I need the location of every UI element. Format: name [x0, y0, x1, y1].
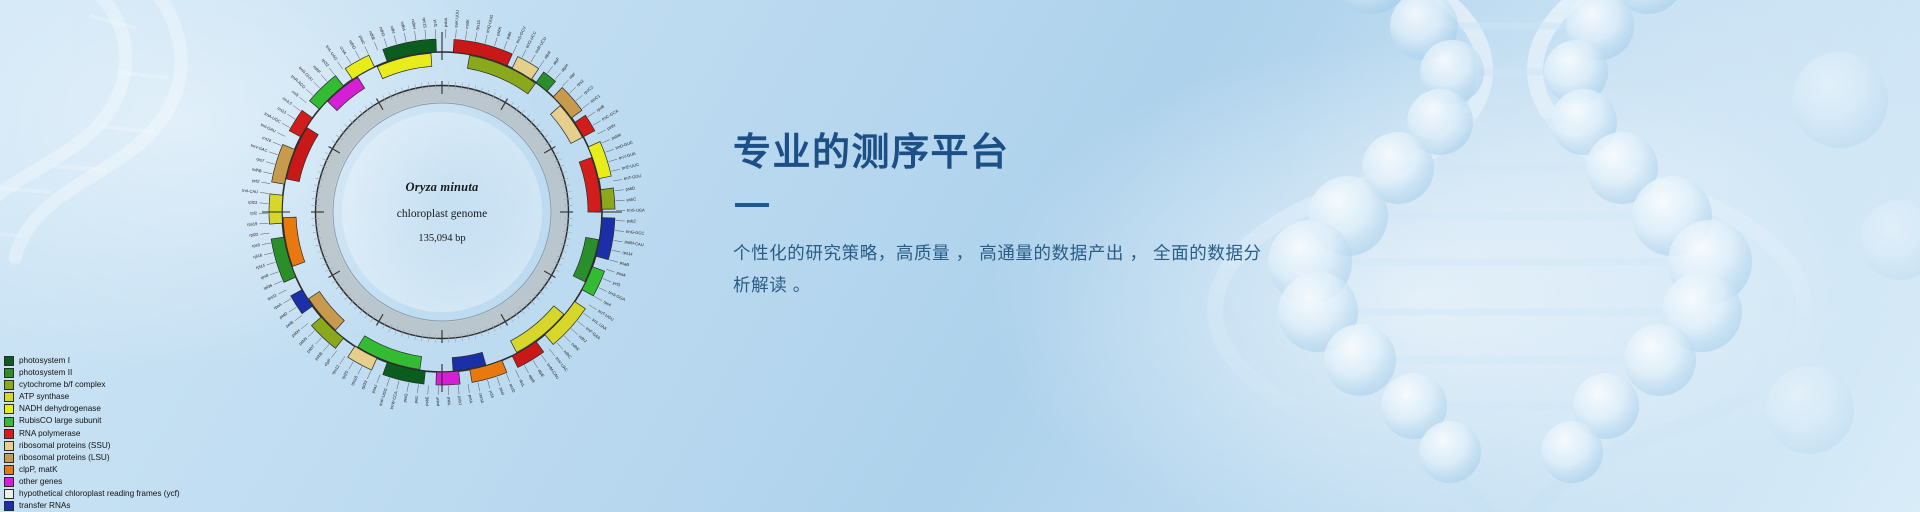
legend-item-label: clpP, matK: [19, 466, 58, 474]
legend-item-label: other genes: [19, 478, 62, 486]
gene-leader-line: [478, 382, 480, 391]
gene-name-label: clpP: [323, 357, 332, 367]
gene-leader-line: [599, 288, 607, 292]
gene-name-label: ndhJ: [578, 334, 588, 344]
gene-leader-line: [612, 250, 621, 252]
gene-name-label: ndhE: [368, 30, 376, 41]
gene-leader-line: [524, 365, 528, 373]
gene-name-label: ccsA: [339, 45, 348, 55]
legend-item-label: ribosomal proteins (LSU): [19, 454, 110, 462]
gene-leader-line: [315, 338, 321, 345]
gene-name-label: petN: [606, 123, 616, 131]
gene-leader-line: [582, 103, 589, 108]
gene-leader-line: [456, 30, 457, 39]
gene-leader-line: [549, 349, 555, 356]
gene-leader-line: [564, 336, 570, 342]
gene-name-label: trnC-GCA: [601, 108, 619, 121]
gene-name-label: rps18: [350, 374, 359, 386]
gene-leader-line: [289, 307, 297, 312]
gene-leader-line: [616, 200, 625, 201]
gene-leader-line: [384, 38, 387, 47]
gene-leader-line: [485, 35, 487, 44]
gene-name-label: psbC: [626, 196, 636, 202]
gene-name-label: psbI: [505, 31, 512, 40]
gene-name-label: rpoB: [595, 103, 605, 112]
gene-name-label: rpl20: [341, 369, 350, 380]
legend-item-label: RNA polymerase: [19, 430, 80, 438]
gene-leader-line: [338, 62, 343, 69]
gene-name-label: rps19: [247, 221, 258, 227]
gene-name-label: psaI: [499, 387, 506, 396]
gene-name-label: psbN: [298, 336, 308, 346]
gene-name-label: psbJ: [457, 396, 463, 405]
gene-name-label: psbZ: [627, 218, 637, 223]
gene-feature-arc: [291, 290, 313, 314]
gene-name-label: ndhG: [378, 26, 386, 37]
gene-name-label: rps15: [422, 17, 428, 28]
banner-description: 个性化的研究策略，高质量 ， 高通量的数据产出 ， 全面的数据分析解读 。: [733, 237, 1263, 302]
gene-leader-line: [615, 190, 624, 191]
gene-name-label: ndhA: [400, 21, 407, 32]
legend-item: clpP, matK: [4, 464, 180, 476]
gene-leader-line: [465, 31, 466, 40]
gene-leader-line: [588, 112, 596, 117]
gene-leader-line: [614, 240, 623, 241]
gene-leader-line: [584, 313, 591, 318]
gene-feature-arc: [600, 188, 615, 209]
legend-item: cytochrome b/f complex: [4, 379, 180, 391]
gene-leader-line: [415, 31, 416, 40]
gene-name-label: trnG-GCC: [626, 229, 645, 236]
gene-name-label: rpl23: [248, 199, 258, 204]
gene-name-label: psbA: [443, 17, 448, 27]
gene-leader-line: [367, 371, 371, 379]
gene-feature-arc: [596, 218, 615, 260]
gene-name-label: rpoA: [273, 302, 283, 311]
legend-color-swatch: [4, 356, 14, 366]
gene-leader-line: [589, 305, 597, 310]
gene-leader-line: [513, 45, 517, 53]
gene-leader-line: [387, 378, 390, 387]
gene-name-label: ndhI: [390, 25, 397, 34]
legend-item-label: ribosomal proteins (SSU): [19, 442, 110, 450]
gene-name-label: trnR-UCU: [534, 36, 547, 54]
gene-name-label: ndhC: [563, 349, 573, 360]
gene-leader-line: [428, 385, 429, 394]
gene-name-label: trnW-CCA: [389, 390, 398, 409]
gene-leader-line: [576, 95, 583, 101]
gene-leader-line: [269, 152, 277, 155]
legend-item: transfer RNAs: [4, 500, 180, 512]
gene-name-label: trnQ-UUG: [485, 14, 494, 33]
gene-name-label: psbM: [611, 132, 623, 141]
gene-name-label: atpI: [568, 71, 576, 79]
legend-item: NADH dehydrogenase: [4, 403, 180, 415]
legend-item-label: cytochrome b/f complex: [19, 381, 105, 389]
gene-leader-line: [274, 281, 282, 285]
gene-category-legend: photosystem Iphotosystem IIcytochrome b/…: [4, 355, 180, 512]
gene-name-label: trnL-UAG: [325, 44, 339, 61]
gene-name-label: trnR-ACG: [290, 74, 307, 90]
gene-leader-line: [264, 253, 273, 255]
gene-name-label: petG: [402, 393, 409, 403]
gene-name-label: psbB: [314, 351, 324, 362]
gene-name-label: matK: [464, 19, 470, 29]
legend-item: ATP synthase: [4, 391, 180, 403]
gene-name-label: rps7: [256, 156, 266, 163]
gene-leader-line: [571, 329, 578, 335]
gene-feature-arc: [436, 371, 460, 385]
gene-name-label: psbF: [435, 396, 440, 406]
gene-feature-arc: [536, 72, 555, 91]
gene-leader-line: [506, 374, 509, 382]
gene-name-label: psbT: [306, 343, 316, 353]
gene-leader-line: [266, 162, 275, 164]
gene-leader-line: [278, 290, 286, 294]
gene-name-label: trnV-UAC: [554, 356, 569, 373]
gene-name-label: trnV-GAC: [250, 143, 268, 153]
gene-leader-line: [578, 321, 585, 327]
gene-name-label: ndhD: [348, 39, 357, 50]
title-underline-rule: [735, 203, 769, 207]
gene-leader-line: [394, 35, 396, 44]
gene-name-label: trnK-UUU: [454, 10, 460, 28]
gene-name-label: psbE: [424, 396, 430, 406]
legend-item-label: RubisCO large subunit: [19, 417, 101, 425]
gene-name-label: psaJ: [370, 384, 378, 394]
gene-leader-line: [308, 331, 315, 337]
gene-leader-line: [522, 50, 526, 58]
gene-name-label: atpE: [537, 368, 546, 378]
gene-leader-line: [260, 193, 269, 194]
legend-color-swatch: [4, 477, 14, 487]
gene-name-label: petB: [285, 319, 295, 328]
gene-leader-line: [606, 269, 614, 272]
hero-banner: psbAtrnK-UUUmatKrps16trnQ-UUGpsbKpsbItrn…: [0, 0, 1920, 512]
gene-leader-line: [262, 243, 271, 245]
legend-item: hypothetical chloroplast reading frames …: [4, 488, 180, 500]
gene-leader-line: [374, 42, 377, 50]
gene-leader-line: [488, 380, 490, 389]
gene-name-label: ndhB: [252, 167, 263, 174]
legend-color-swatch: [4, 441, 14, 451]
gene-name-label: petL: [413, 394, 419, 403]
gene-leader-line: [267, 262, 276, 265]
page-title: 专业的测序平台: [733, 133, 1433, 175]
gene-name-label: trnA-UGC: [264, 111, 282, 124]
gene-leader-line: [407, 383, 409, 392]
gene-name-label: trnT-UGU: [597, 308, 615, 322]
gene-name-label: trnS-GCU: [515, 26, 527, 44]
gene-name-label: rps11: [266, 292, 278, 301]
gene-name-label: atpA: [543, 50, 552, 60]
legend-color-swatch: [4, 489, 14, 499]
gene-leader-line: [321, 75, 327, 82]
gene-name-label: trnS-UGA: [627, 208, 645, 213]
gene-name-label: psbD: [625, 185, 635, 191]
gene-name-label: ycf2: [252, 178, 261, 184]
gene-leader-line: [593, 121, 601, 125]
gene-leader-line: [358, 367, 362, 375]
gene-name-label: rps8: [260, 273, 270, 281]
gene-name-label: trnY-GUA: [618, 151, 636, 161]
gene-name-label: trnG-UCC: [524, 30, 537, 48]
gene-leader-line: [475, 32, 477, 41]
gene-name-label: atpH: [560, 63, 569, 73]
gene-name-label: rpl14: [255, 262, 266, 270]
gene-name-label: rrn5: [291, 89, 300, 98]
legend-color-swatch: [4, 453, 14, 463]
gene-leader-line: [594, 296, 602, 300]
gene-leader-line: [301, 323, 308, 329]
gene-leader-line: [349, 362, 354, 370]
gene-name-label: rpl16: [253, 252, 264, 259]
gene-name-label: atpB: [528, 374, 537, 384]
legend-color-swatch: [4, 417, 14, 427]
gene-leader-line: [299, 97, 306, 103]
legend-color-swatch: [4, 380, 14, 390]
legend-color-swatch: [4, 392, 14, 402]
gene-name-label: rpoC2: [582, 84, 594, 95]
gene-name-label: psbK: [495, 26, 503, 37]
gene-leader-line: [287, 114, 295, 119]
gene-name-label: rbcL: [518, 378, 526, 388]
gene-leader-line: [613, 179, 622, 181]
gene-name-label: rps3: [252, 242, 261, 248]
gene-leader-line: [259, 223, 268, 224]
gene-name-label: trnE-UUC: [621, 162, 639, 171]
gene-leader-line: [497, 377, 500, 386]
gene-leader-line: [504, 41, 507, 49]
gene-leader-line: [263, 172, 272, 174]
gene-name-label: trnI-GAU: [260, 122, 277, 134]
gene-name-label: rrn23: [276, 106, 287, 116]
legend-color-swatch: [4, 429, 14, 439]
gene-name-label: ndhK: [570, 342, 580, 353]
legend-item-label: hypothetical chloroplast reading frames …: [19, 490, 180, 498]
legend-color-swatch: [4, 368, 14, 378]
gene-leader-line: [273, 142, 281, 145]
gene-leader-line: [598, 130, 606, 134]
gene-leader-line: [533, 360, 538, 368]
gene-name-label: rpl2: [250, 210, 258, 215]
gene-leader-line: [260, 233, 269, 234]
gene-name-label: rrn4.5: [282, 96, 294, 107]
gene-name-label: trnM-CAU: [546, 362, 561, 380]
gene-leader-line: [609, 159, 618, 162]
gene-name-label: rpl33: [360, 379, 369, 390]
legend-color-swatch: [4, 501, 14, 511]
gene-name-label: psaC: [358, 34, 367, 45]
gene-name-label: rpl22: [249, 232, 259, 238]
banner-copy-block: 专业的测序平台 个性化的研究策略，高质量 ， 高通量的数据产出 ， 全面的数据分…: [733, 133, 1433, 302]
gene-name-label: ycf4: [488, 390, 495, 399]
gene-leader-line: [323, 344, 329, 351]
legend-item: ribosomal proteins (SSU): [4, 440, 180, 452]
gene-leader-line: [306, 89, 313, 95]
gene-name-label: trnL-UAA: [591, 317, 608, 331]
legend-item: photosystem I: [4, 355, 180, 367]
gene-name-label: psaB: [619, 260, 630, 267]
gene-name-label: accD: [508, 383, 516, 394]
gene-leader-line: [541, 355, 546, 362]
gene-name-label: atpF: [552, 56, 561, 66]
gene-name-label: petA: [468, 394, 474, 403]
gene-leader-line: [270, 272, 278, 275]
gene-leader-line: [346, 56, 351, 64]
gene-leader-line: [605, 149, 613, 152]
gene-leader-line: [295, 315, 302, 320]
genome-map-svg: psbAtrnK-UUUmatKrps16trnQ-UUGpsbKpsbItrn…: [236, 6, 648, 418]
gene-name-label: rpl32: [321, 57, 331, 68]
gene-name-label: psaA: [616, 270, 627, 278]
gene-leader-line: [355, 51, 359, 59]
gene-feature-arc: [345, 55, 374, 79]
gene-name-label: psbH: [290, 328, 301, 338]
gene-leader-line: [365, 46, 369, 54]
gene-leader-line: [562, 80, 568, 87]
legend-item: RubisCO large subunit: [4, 415, 180, 427]
gene-name-label: psbL: [447, 397, 452, 407]
gene-name-label: trnI-CAU: [242, 188, 258, 195]
gene-name-label: rps16: [474, 19, 481, 31]
gene-leader-line: [377, 375, 380, 383]
gene-leader-line: [495, 38, 498, 47]
gene-leader-line: [277, 133, 285, 137]
gene-name-label: ndhH: [411, 19, 417, 29]
legend-item: ribosomal proteins (LSU): [4, 452, 180, 464]
gene-leader-line: [404, 33, 406, 42]
legend-item-label: NADH dehydrogenase: [19, 405, 101, 413]
gene-leader-line: [282, 123, 290, 127]
gene-leader-line: [293, 106, 300, 111]
gene-leader-line: [458, 385, 459, 394]
gene-name-label: trnT-GGU: [624, 173, 642, 181]
gene-leader-line: [602, 139, 610, 143]
gene-name-label: petD: [278, 311, 288, 320]
gene-name-label: rrn16: [261, 135, 272, 144]
gene-leader-line: [569, 87, 576, 93]
legend-item-label: photosystem II: [19, 369, 72, 377]
gene-name-label: rps4: [603, 299, 613, 308]
legend-item-label: photosystem I: [19, 357, 70, 365]
gene-leader-line: [557, 343, 563, 350]
gene-leader-line: [603, 279, 611, 282]
gene-name-label: trnfM-CAU: [624, 239, 644, 247]
gene-leader-line: [313, 82, 319, 88]
gene-feature-arc: [269, 194, 283, 224]
gene-leader-line: [539, 60, 544, 67]
gene-leader-line: [515, 370, 519, 378]
gene-name-label: ycf1: [433, 20, 438, 28]
gene-name-label: trnS-GGA: [608, 290, 627, 302]
gene-leader-line: [615, 231, 624, 232]
gene-leader-line: [283, 299, 291, 303]
legend-item-label: ATP synthase: [19, 393, 69, 401]
gene-name-label: ndhF: [312, 64, 322, 75]
legend-item: other genes: [4, 476, 180, 488]
gene-leader-line: [425, 30, 426, 39]
legend-item: photosystem II: [4, 367, 180, 379]
gene-name-label: cemA: [478, 392, 485, 404]
gene-leader-line: [611, 169, 620, 171]
legend-item-label: transfer RNAs: [19, 502, 70, 510]
gene-name-label: rps14: [622, 250, 634, 257]
chloroplast-genome-map: psbAtrnK-UUUmatKrps16trnQ-UUGpsbKpsbItrn…: [236, 6, 648, 418]
gene-leader-line: [397, 381, 399, 390]
gene-name-label: rpl36: [263, 282, 274, 290]
gene-name-label: ycf3: [612, 280, 622, 288]
gene-name-label: rps12: [331, 363, 341, 375]
gene-name-label: rpoC1: [589, 93, 602, 104]
map-center-disc: [342, 112, 542, 312]
gene-leader-line: [340, 356, 345, 363]
gene-name-label: trnD-GUC: [615, 140, 634, 151]
legend-color-swatch: [4, 404, 14, 414]
gene-name-label: trnP-UGG: [378, 387, 388, 406]
gene-leader-line: [417, 384, 418, 393]
legend-color-swatch: [4, 465, 14, 475]
gene-leader-line: [261, 182, 270, 183]
gene-leader-line: [555, 73, 561, 80]
gene-leader-line: [331, 351, 336, 358]
gene-leader-line: [609, 260, 618, 262]
gene-leader-line: [531, 55, 536, 63]
gene-name-label: rps2: [575, 78, 585, 88]
gene-leader-line: [329, 68, 335, 75]
gene-leader-line: [547, 66, 552, 73]
gene-leader-line: [468, 384, 469, 393]
legend-item: RNA polymerase: [4, 428, 180, 440]
